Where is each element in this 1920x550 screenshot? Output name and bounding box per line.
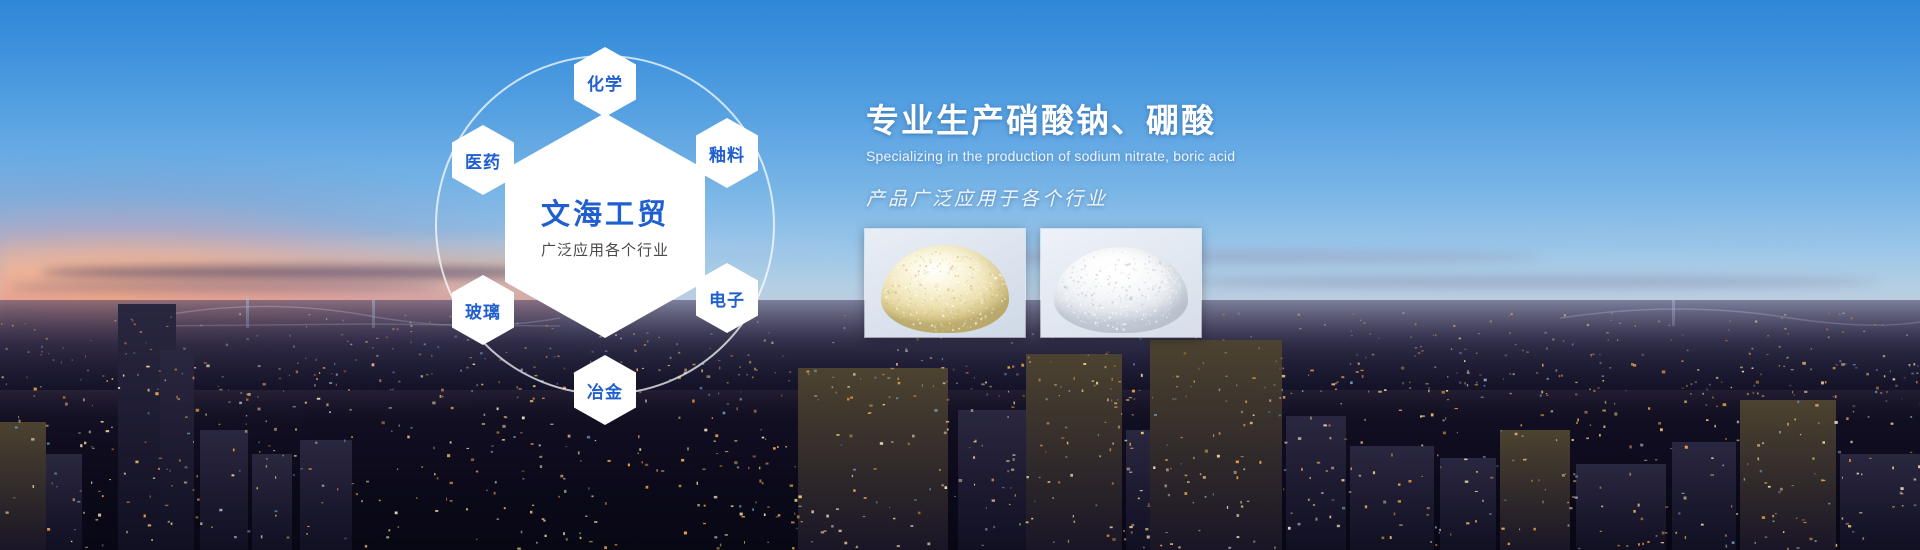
banner-subtitle-english: Specializing in the production of sodium… <box>866 148 1426 164</box>
hex-label-chemistry: 化学 <box>587 70 623 95</box>
banner-subtitle-chinese: 产品广泛应用于各个行业 <box>866 184 1426 211</box>
banner-copy-block: 专业生产硝酸钠、硼酸 Specializing in the productio… <box>866 100 1426 211</box>
product-photo-boric-acid[interactable] <box>1040 228 1202 338</box>
hex-label-glass: 玻璃 <box>465 298 501 323</box>
powder-grain-texture <box>865 229 1025 337</box>
industry-hexagon-diagram: 文海工贸 广泛应用各个行业 化学 釉料 电子 冶金 玻璃 医药 <box>400 25 870 495</box>
banner-headline: 专业生产硝酸钠、硼酸 <box>866 100 1426 141</box>
product-photo-sodium-nitrate[interactable] <box>864 228 1026 338</box>
powder-grain-texture <box>1041 229 1201 337</box>
company-tagline: 广泛应用各个行业 <box>541 239 669 260</box>
hex-label-metallurgy: 冶金 <box>587 378 623 403</box>
product-photo-strip <box>864 228 1202 338</box>
hex-label-glaze: 釉料 <box>709 141 745 166</box>
company-name: 文海工贸 <box>541 191 669 233</box>
hex-label-pharmaceutical: 医药 <box>465 148 501 173</box>
hex-label-electronics: 电子 <box>709 286 745 311</box>
hero-banner: 文海工贸 广泛应用各个行业 化学 釉料 电子 冶金 玻璃 医药 专业生产硝酸钠、… <box>0 0 1920 550</box>
